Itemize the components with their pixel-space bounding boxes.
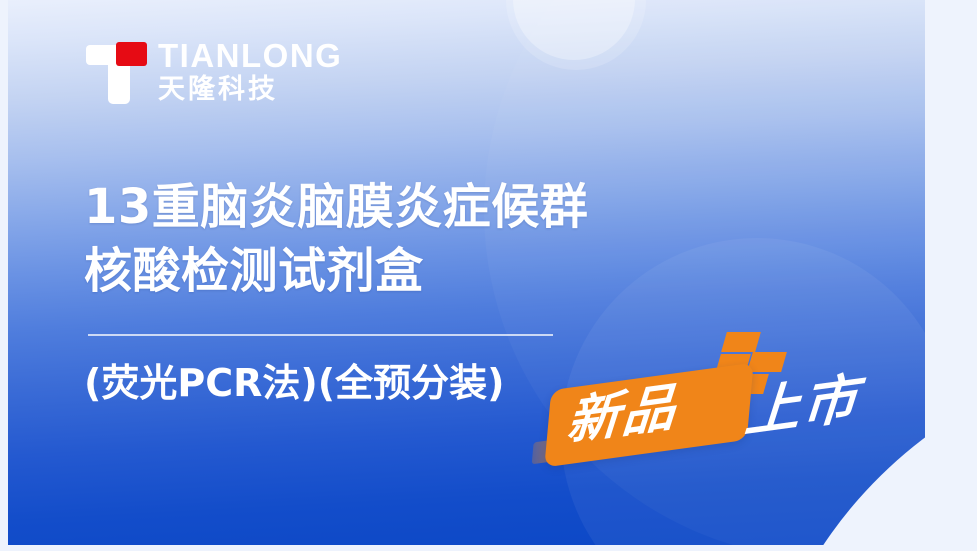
new-product-badge: 新品 上市 bbox=[528, 330, 888, 495]
divider bbox=[88, 334, 553, 336]
promo-banner: TIANLONG 天隆科技 13重脑炎脑膜炎症候群 核酸检测试剂盒 (荧光PCR… bbox=[8, 0, 925, 545]
tianlong-t-mark-icon bbox=[86, 40, 148, 108]
badge-accent-block-2 bbox=[747, 352, 787, 372]
brand-logo-text: TIANLONG 天隆科技 bbox=[158, 38, 342, 106]
brand-logo: TIANLONG 天隆科技 bbox=[86, 38, 346, 110]
t-mark-red-square bbox=[116, 42, 147, 66]
headline-line-2: 核酸检测试剂盒 bbox=[84, 239, 588, 303]
brand-name-en: TIANLONG bbox=[158, 38, 342, 74]
promo-banner-stage: TIANLONG 天隆科技 13重脑炎脑膜炎症候群 核酸检测试剂盒 (荧光PCR… bbox=[0, 0, 977, 551]
subtitle: (荧光PCR法)(全预分装) bbox=[84, 358, 504, 408]
headline-line-1: 13重脑炎脑膜炎症候群 bbox=[84, 175, 588, 239]
brand-name-cn: 天隆科技 bbox=[158, 74, 342, 106]
badge-accent-block-1 bbox=[721, 332, 761, 352]
headline: 13重脑炎脑膜炎症候群 核酸检测试剂盒 bbox=[84, 175, 588, 303]
